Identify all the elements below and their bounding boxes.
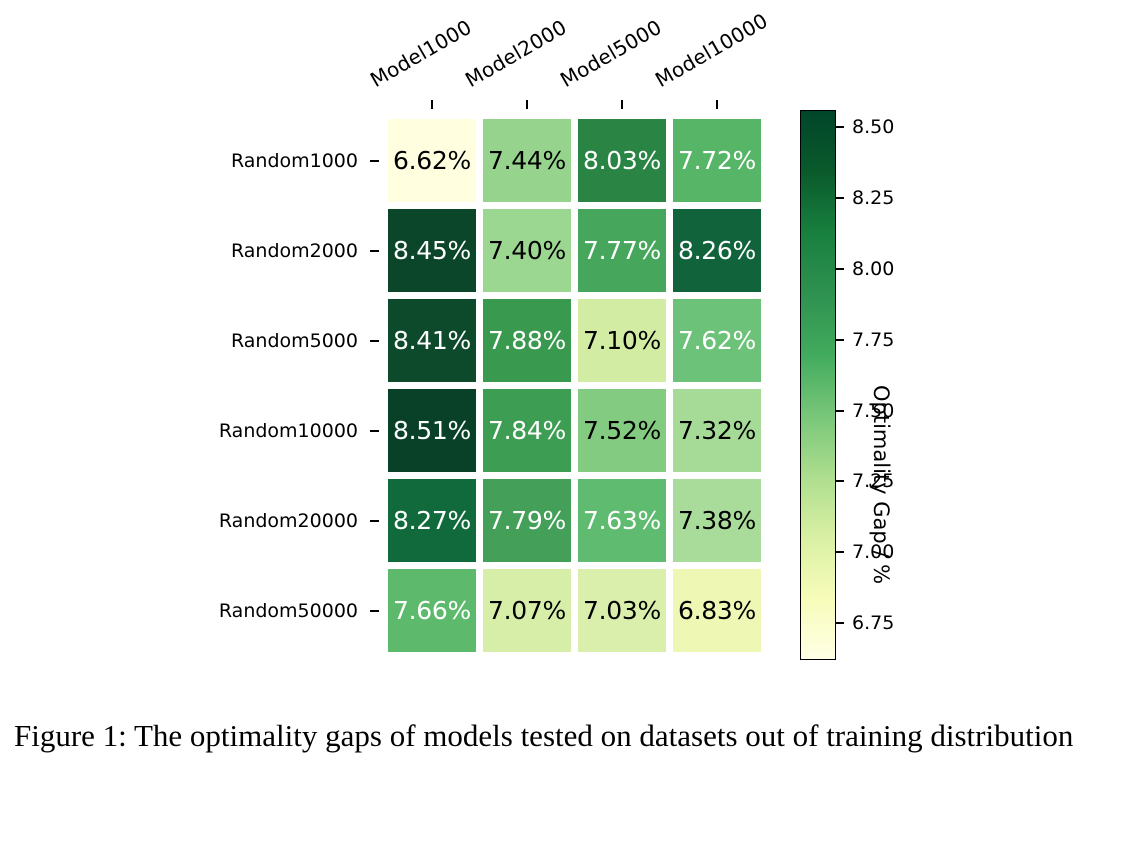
y-axis-label-random10000: Random10000	[150, 420, 358, 442]
y-axis-tick	[370, 340, 379, 342]
heatmap-cell: 8.03%	[578, 119, 666, 202]
y-axis-tick	[370, 160, 379, 162]
heatmap-cell: 8.51%	[388, 389, 476, 472]
heatmap-cell-value: 6.83%	[678, 596, 756, 625]
colorbar-tick	[836, 197, 844, 199]
heatmap-cell: 8.41%	[388, 299, 476, 382]
heatmap-cell: 6.83%	[673, 569, 761, 652]
y-axis-tick	[370, 520, 379, 522]
colorbar-tick-label: 6.75	[852, 612, 894, 634]
y-axis-label-random5000: Random5000	[150, 330, 358, 352]
colorbar-tick-label: 7.75	[852, 329, 894, 351]
heatmap-cell: 7.07%	[483, 569, 571, 652]
colorbar-tick	[836, 268, 844, 270]
heatmap-cell-value: 8.03%	[583, 146, 661, 175]
x-axis-label-model2000: Model2000	[461, 15, 571, 92]
x-axis-tick	[431, 100, 433, 109]
colorbar: 8.508.258.007.757.507.257.006.75	[800, 110, 836, 660]
heatmap-cell: 7.40%	[483, 209, 571, 292]
heatmap-cell: 7.79%	[483, 479, 571, 562]
heatmap-cell-value: 7.77%	[583, 236, 661, 265]
heatmap-cell-value: 8.26%	[678, 236, 756, 265]
colorbar-tick-label: 8.25	[852, 187, 894, 209]
heatmap-cell-value: 7.44%	[488, 146, 566, 175]
heatmap-cell: 7.03%	[578, 569, 666, 652]
heatmap-cell: 7.62%	[673, 299, 761, 382]
heatmap-cell: 7.52%	[578, 389, 666, 472]
heatmap-cell-value: 7.10%	[583, 326, 661, 355]
colorbar-tick	[836, 622, 844, 624]
x-axis-label-model5000: Model5000	[556, 15, 666, 92]
y-axis-label-random2000: Random2000	[150, 240, 358, 262]
heatmap-cell-value: 7.38%	[678, 506, 756, 535]
heatmap-cell-value: 7.03%	[583, 596, 661, 625]
x-axis-tick	[526, 100, 528, 109]
heatmap-cell-value: 7.66%	[393, 596, 471, 625]
heatmap-cell: 7.88%	[483, 299, 571, 382]
x-axis-tick	[716, 100, 718, 109]
colorbar-axis-label: Optimality Gap / %	[869, 385, 893, 584]
heatmap-figure: Model1000Model2000Model5000Model10000 Ra…	[0, 0, 1144, 843]
heatmap-cell: 7.66%	[388, 569, 476, 652]
colorbar-tick	[836, 410, 844, 412]
heatmap-cell: 7.77%	[578, 209, 666, 292]
colorbar-tick	[836, 551, 844, 553]
heatmap-cell: 7.84%	[483, 389, 571, 472]
colorbar-tick	[836, 480, 844, 482]
heatmap-cell-value: 7.52%	[583, 416, 661, 445]
colorbar-tick-label: 8.50	[852, 116, 894, 138]
x-axis-tick	[621, 100, 623, 109]
heatmap-cell-value: 8.51%	[393, 416, 471, 445]
heatmap-cell: 8.45%	[388, 209, 476, 292]
heatmap-cell-value: 7.88%	[488, 326, 566, 355]
y-axis-tick	[370, 250, 379, 252]
heatmap-cell: 6.62%	[388, 119, 476, 202]
y-axis-tick	[370, 430, 379, 432]
x-axis-labels: Model1000Model2000Model5000Model10000	[0, 0, 1144, 110]
heatmap-cell-value: 7.72%	[678, 146, 756, 175]
heatmap-cell: 8.27%	[388, 479, 476, 562]
y-axis-tick	[370, 610, 379, 612]
y-axis-label-random50000: Random50000	[150, 600, 358, 622]
heatmap-cell: 7.32%	[673, 389, 761, 472]
heatmap-cell-value: 7.63%	[583, 506, 661, 535]
colorbar-gradient	[800, 110, 836, 660]
colorbar-tick	[836, 339, 844, 341]
heatmap-cell: 7.72%	[673, 119, 761, 202]
x-axis-label-model10000: Model10000	[651, 8, 772, 92]
heatmap-cell-value: 7.62%	[678, 326, 756, 355]
heatmap-cell: 7.63%	[578, 479, 666, 562]
heatmap-cell-value: 7.32%	[678, 416, 756, 445]
heatmap-cell-value: 6.62%	[393, 146, 471, 175]
colorbar-tick-label: 8.00	[852, 258, 894, 280]
heatmap-cell-value: 8.27%	[393, 506, 471, 535]
colorbar-tick	[836, 126, 844, 128]
heatmap-cell: 8.26%	[673, 209, 761, 292]
heatmap-cell-value: 7.07%	[488, 596, 566, 625]
y-axis-label-random1000: Random1000	[150, 150, 358, 172]
heatmap-cell-value: 7.40%	[488, 236, 566, 265]
heatmap-cell-value: 8.45%	[393, 236, 471, 265]
figure-caption: Figure 1: The optimality gaps of models …	[14, 716, 1124, 756]
y-axis-label-random20000: Random20000	[150, 510, 358, 532]
heatmap-cell: 7.10%	[578, 299, 666, 382]
heatmap-cell-value: 8.41%	[393, 326, 471, 355]
heatmap-cell-value: 7.79%	[488, 506, 566, 535]
heatmap-cell: 7.38%	[673, 479, 761, 562]
x-axis-label-model1000: Model1000	[366, 15, 476, 92]
heatmap-cell-value: 7.84%	[488, 416, 566, 445]
heatmap-cell: 7.44%	[483, 119, 571, 202]
